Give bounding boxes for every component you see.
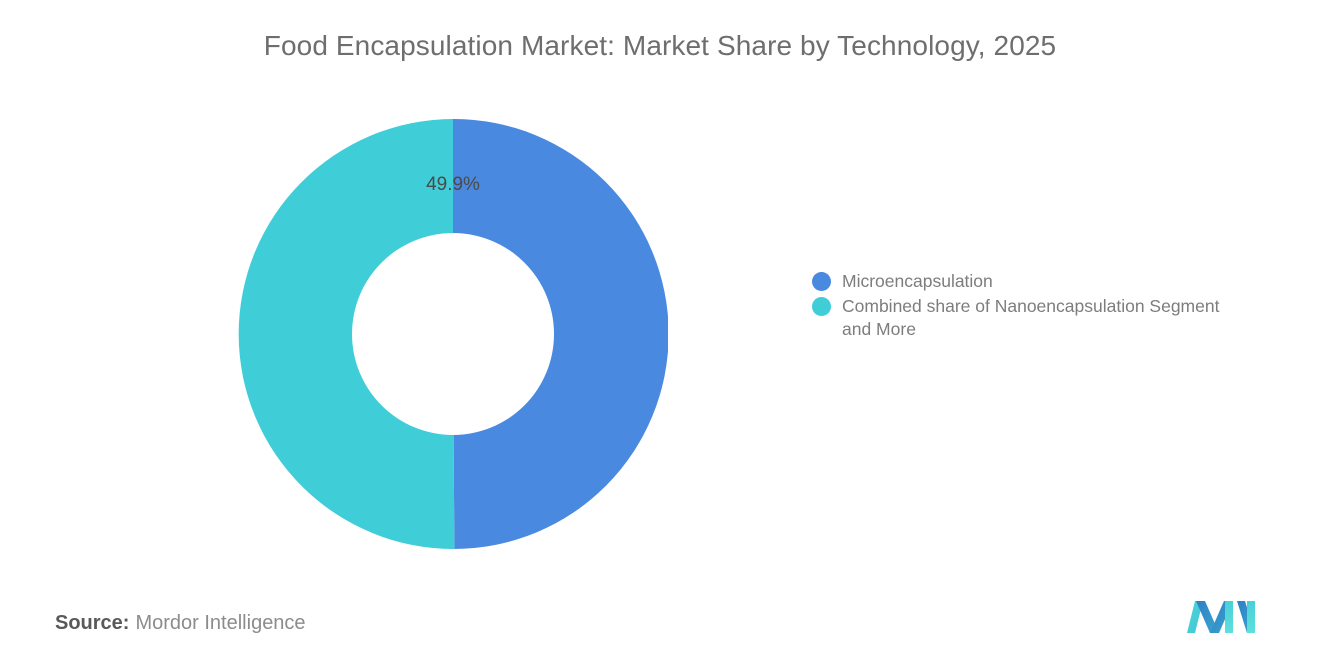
mordor-intelligence-logo-icon <box>1185 599 1257 635</box>
page-title: Food Encapsulation Market: Market Share … <box>0 30 1320 62</box>
legend-label-combined-nanoencapsulation: Combined share of Nanoencapsulation Segm… <box>842 295 1240 340</box>
legend-swatch-icon-combined-nanoencapsulation <box>812 297 831 316</box>
legend-swatch-icon-microencapsulation <box>812 272 831 291</box>
source-line: Source:Mordor Intelligence <box>55 612 306 635</box>
donut-chart: 49.9% <box>238 119 668 549</box>
legend-label-microencapsulation: Microencapsulation <box>842 270 993 292</box>
chart-legend: Microencapsulation Combined share of Nan… <box>812 270 1252 343</box>
source-value: Mordor Intelligence <box>135 612 305 634</box>
legend-item-microencapsulation[interactable]: Microencapsulation <box>812 270 1252 292</box>
donut-chart-svg <box>238 119 668 549</box>
legend-item-combined-nanoencapsulation[interactable]: Combined share of Nanoencapsulation Segm… <box>812 295 1252 340</box>
source-label: Source: <box>55 612 129 634</box>
donut-center-hole <box>352 233 554 435</box>
